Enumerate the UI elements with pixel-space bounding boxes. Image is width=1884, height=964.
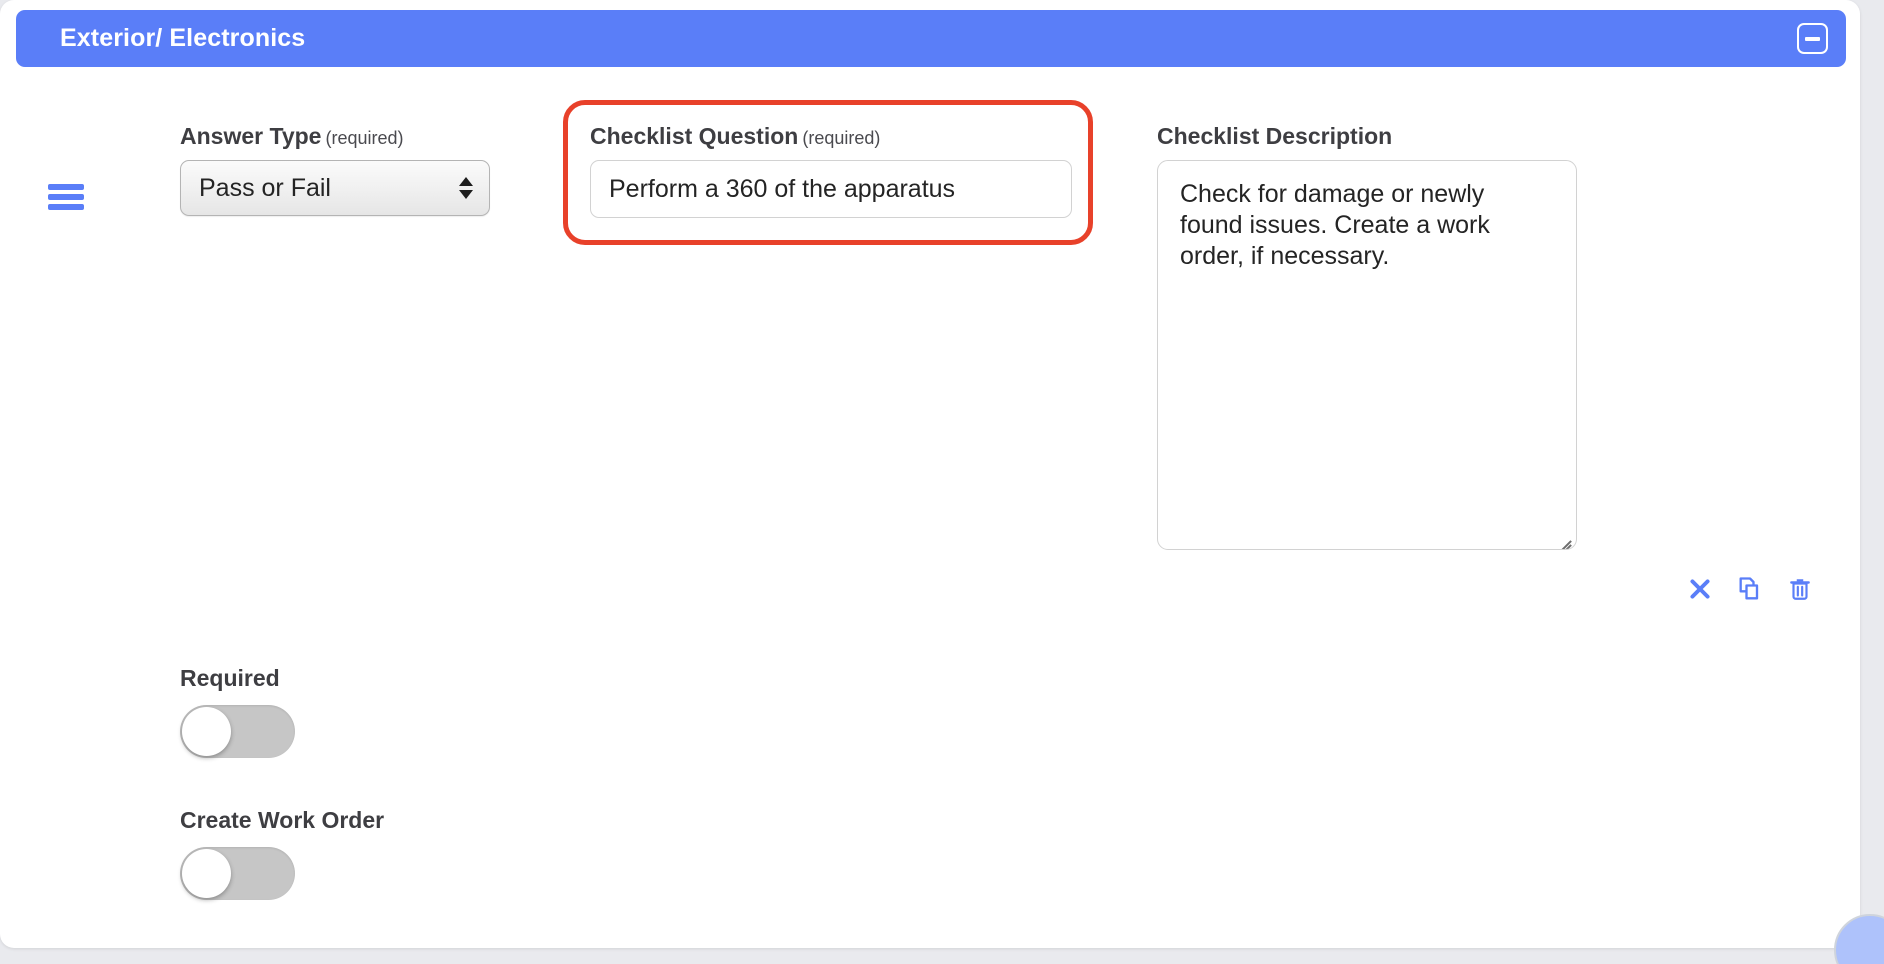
trash-icon xyxy=(1787,576,1813,602)
resize-grip-icon[interactable] xyxy=(1556,530,1572,546)
answer-type-label: Answer Type(required) xyxy=(180,123,490,150)
create-work-order-toggle[interactable] xyxy=(180,847,295,900)
checklist-description-label: Checklist Description xyxy=(1157,123,1577,150)
create-work-order-toggle-group: Create Work Order xyxy=(180,807,384,900)
required-toggle-knob xyxy=(182,707,231,756)
checklist-question-label-text: Checklist Question xyxy=(590,123,798,149)
delete-button[interactable] xyxy=(1778,567,1822,611)
checklist-question-label: Checklist Question(required) xyxy=(590,123,1066,150)
section-title: Exterior/ Electronics xyxy=(60,24,305,53)
checklist-question-input[interactable]: Perform a 360 of the apparatus xyxy=(590,160,1072,218)
arrow-up-icon xyxy=(459,177,473,186)
collapse-section-button[interactable] xyxy=(1797,23,1828,54)
answer-type-required-note: (required) xyxy=(325,128,403,148)
checklist-item-card: Exterior/ Electronics Answer Type(requir… xyxy=(0,0,1860,948)
arrow-down-icon xyxy=(459,190,473,199)
section-header: Exterior/ Electronics xyxy=(16,10,1846,67)
checklist-question-required-note: (required) xyxy=(802,128,880,148)
answer-type-select[interactable]: Pass or Fail xyxy=(180,160,490,216)
x-icon xyxy=(1687,576,1713,602)
required-toggle-group: Required xyxy=(180,665,295,758)
checklist-description-field: Checklist Description Check for damage o… xyxy=(1157,123,1577,550)
section-body: Answer Type(required) Pass or Fail Check… xyxy=(0,67,1860,948)
drag-bar-2 xyxy=(48,194,84,200)
create-work-order-toggle-label: Create Work Order xyxy=(180,807,384,834)
copy-pages-icon xyxy=(1736,575,1764,603)
minus-icon xyxy=(1805,37,1820,41)
drag-bar-1 xyxy=(48,184,84,190)
checklist-description-value: Check for damage or newly found issues. … xyxy=(1180,180,1490,270)
up-down-arrows-icon xyxy=(459,177,473,199)
checklist-question-field-highlight: Checklist Question(required) Perform a 3… xyxy=(563,100,1093,245)
drag-bar-3 xyxy=(48,204,84,210)
hamburger-drag-icon[interactable] xyxy=(48,184,84,210)
answer-type-field: Answer Type(required) Pass or Fail xyxy=(180,123,490,216)
required-toggle[interactable] xyxy=(180,705,295,758)
checklist-description-textarea[interactable]: Check for damage or newly found issues. … xyxy=(1157,160,1577,550)
create-work-order-toggle-knob xyxy=(182,849,231,898)
duplicate-button[interactable] xyxy=(1728,567,1772,611)
row-actions xyxy=(1678,567,1822,611)
answer-type-label-text: Answer Type xyxy=(180,123,321,149)
answer-type-selected-value: Pass or Fail xyxy=(199,174,331,203)
required-toggle-label: Required xyxy=(180,665,295,692)
app-root: Exterior/ Electronics Answer Type(requir… xyxy=(0,0,1884,964)
close-button[interactable] xyxy=(1678,567,1722,611)
